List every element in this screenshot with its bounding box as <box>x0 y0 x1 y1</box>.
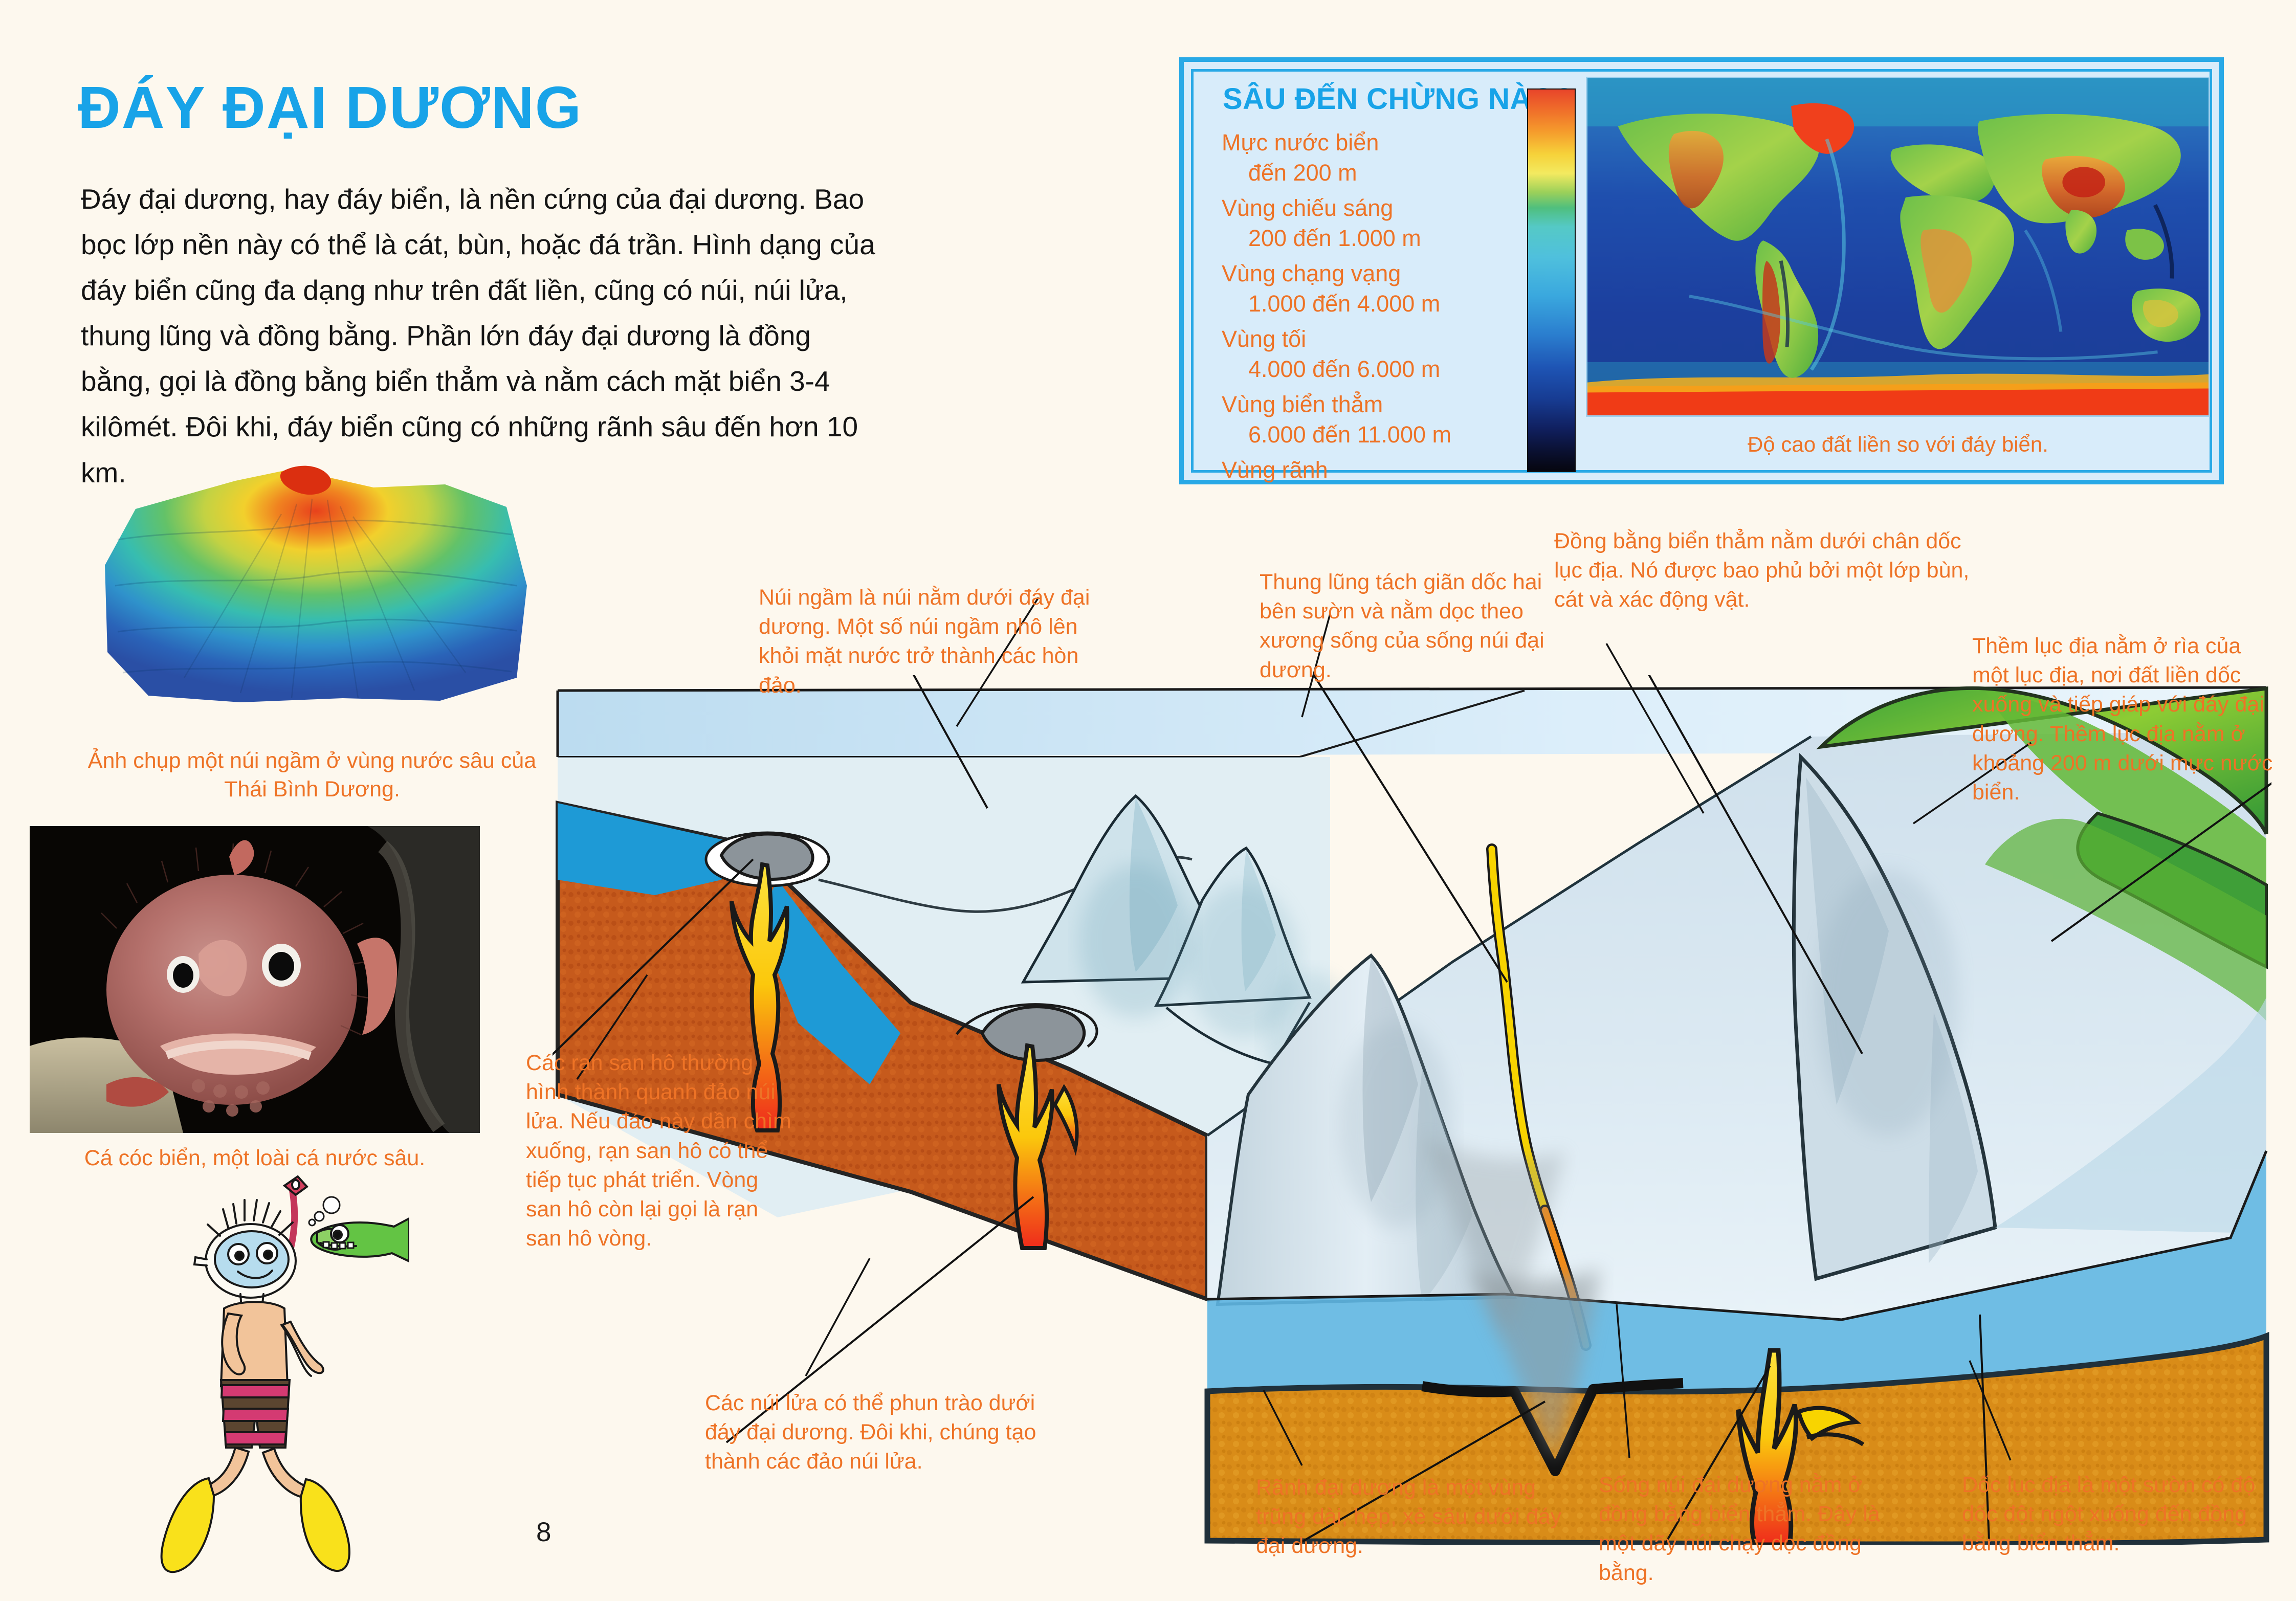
zone-item: Mực nước biển đến 200 m <box>1222 128 1580 188</box>
page-number: 8 <box>536 1517 551 1548</box>
zone-name: Vùng tối <box>1222 324 1580 354</box>
zone-name: Vùng rãnh <box>1222 455 1580 485</box>
zone-item: Vùng tối 4.000 đến 6.000 m <box>1222 324 1580 384</box>
zone-item: Vùng biển thẳm 6.000 đến 11.000 m <box>1222 390 1580 450</box>
zone-item: Vùng rãnh <box>1222 455 1580 485</box>
info-box-title: SÂU ĐẾN CHỪNG NÀO? <box>1223 82 1573 116</box>
annotation-volcano: Các núi lửa có thể phun trào dưới đáy đạ… <box>705 1389 1063 1477</box>
zone-range: 200 đến 1.000 m <box>1222 224 1580 254</box>
zone-name: Vùng chiếu sáng <box>1222 193 1580 224</box>
depth-zone-list: Mực nước biển đến 200 m Vùng chiếu sáng … <box>1222 128 1580 491</box>
seamount-caption: Ảnh chụp một núi ngầm ở vùng nước sâu củ… <box>67 747 558 804</box>
annotation-coral-reef: Các rạn san hô thường hình thành quanh đ… <box>526 1049 792 1253</box>
annotation-ocean-trench: Rãnh đại dương là một vùng trũng dài, hẹ… <box>1256 1473 1573 1561</box>
ocean-floor-page: ĐÁY ĐẠI DƯƠNG Đáy đại dương, hay đáy biể… <box>0 0 2296 1601</box>
zone-range: đến 200 m <box>1222 158 1580 188</box>
annotation-seamount: Núi ngầm là núi nằm dưới đáy đại dương. … <box>759 583 1096 700</box>
depth-colorbar-icon <box>1527 88 1576 472</box>
annotation-continental-slope: Dốc lục địa là một sườn có độ dốc đột ng… <box>1962 1471 2269 1559</box>
intro-paragraph: Đáy đại dương, hay đáy biển, là nền cứng… <box>81 176 879 496</box>
world-elevation-map <box>1586 77 2210 417</box>
fish-caption: Cá cóc biển, một loài cá nước sâu. <box>30 1146 480 1171</box>
annotation-mid-ocean-ridge: Sống núi đại dương nằm ở đồng bằng biển … <box>1599 1471 1916 1588</box>
zone-name: Mực nước biển <box>1222 128 1580 158</box>
zone-range: 6.000 đến 11.000 m <box>1222 420 1580 450</box>
annotation-abyssal-plain: Đồng bằng biển thẳm nằm dưới chân dốc lụ… <box>1554 527 1974 615</box>
zone-range: 4.000 đến 6.000 m <box>1222 354 1580 385</box>
annotation-continental-shelf: Thềm lục địa nằm ở rìa của một lục địa, … <box>1972 632 2279 807</box>
seamount-bathymetry-photo <box>87 458 537 734</box>
cartoon-diver-illustration <box>133 1171 409 1581</box>
zone-range: 1.000 đến 4.000 m <box>1222 289 1580 319</box>
world-map-caption: Độ cao đất liền so với đáy biển. <box>1586 432 2210 457</box>
zone-item: Vùng chạng vạng 1.000 đến 4.000 m <box>1222 259 1580 319</box>
zone-item: Vùng chiếu sáng 200 đến 1.000 m <box>1222 193 1580 253</box>
annotation-rift-valley: Thung lũng tách giãn dốc hai bên sườn và… <box>1260 568 1546 685</box>
page-title: ĐÁY ĐẠI DƯƠNG <box>78 77 582 139</box>
zone-name: Vùng biển thẳm <box>1222 390 1580 420</box>
zone-name: Vùng chạng vạng <box>1222 259 1580 289</box>
deep-sea-fish-photo <box>30 826 480 1133</box>
